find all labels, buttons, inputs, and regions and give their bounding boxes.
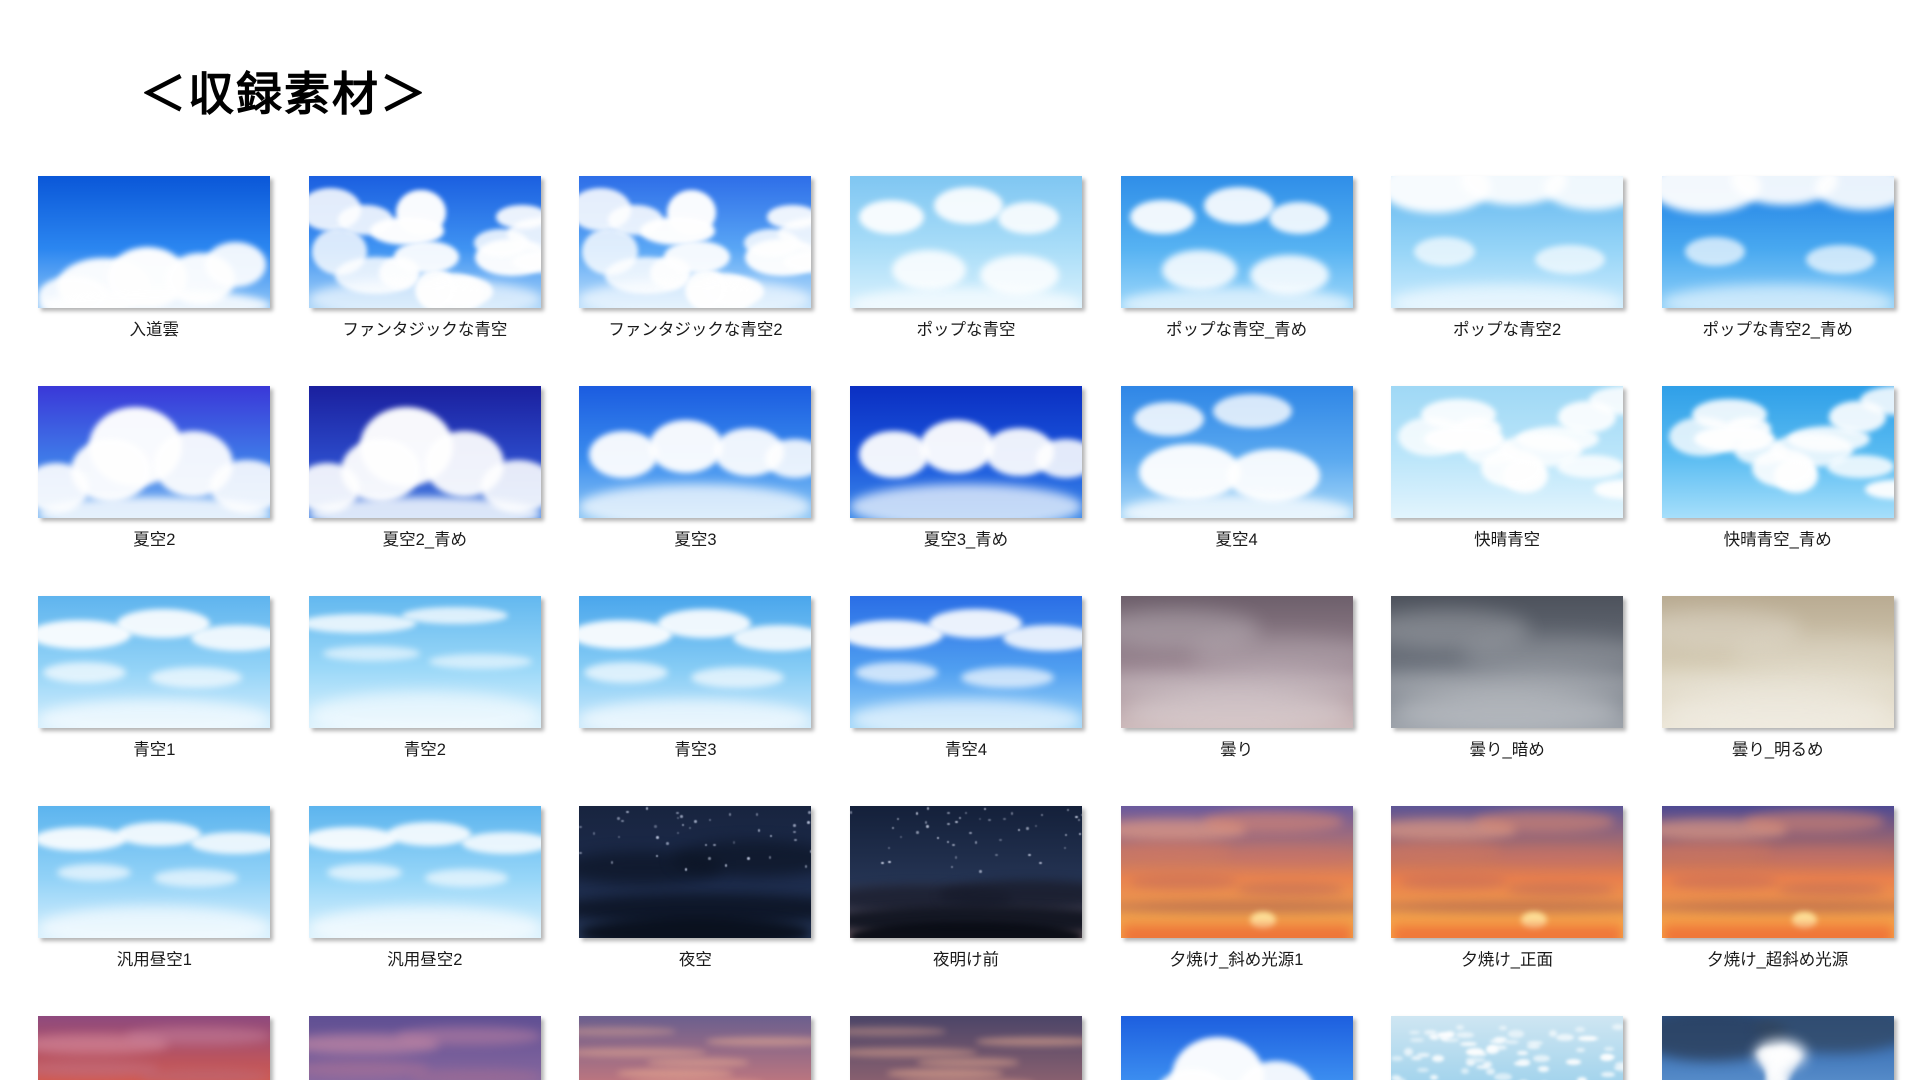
material-label: 汎用昼空2 — [387, 951, 462, 971]
material-label: 入道雲 — [130, 321, 180, 341]
thumbnail-wrapper — [1381, 592, 1634, 732]
material-thumbnail[interactable] — [1662, 596, 1894, 728]
material-label: ファンタジックな青空 — [342, 321, 507, 341]
cloud-layer — [1121, 386, 1353, 518]
thumbnail-wrapper — [299, 172, 552, 312]
cloud-layer — [1121, 1016, 1353, 1080]
material-thumbnail[interactable] — [850, 176, 1082, 308]
material-thumbnail[interactable] — [1121, 1016, 1353, 1080]
material-thumbnail[interactable] — [579, 806, 811, 938]
thumbnail-wrapper — [28, 592, 281, 732]
cloud-layer — [38, 386, 270, 518]
thumbnail-wrapper — [1381, 382, 1634, 522]
material-item[interactable]: 夏空2_青め — [299, 382, 552, 592]
material-item[interactable]: 夜明け前 — [840, 802, 1093, 1012]
material-item[interactable]: 夕焼け_正面 — [1381, 802, 1634, 1012]
material-thumbnail[interactable] — [1121, 386, 1353, 518]
material-thumbnail[interactable] — [309, 176, 541, 308]
page-title: ＜収録素材＞ — [140, 58, 428, 124]
cloud-layer — [1662, 386, 1894, 518]
material-item[interactable]: 夕暮れ_横光源2 — [569, 1012, 822, 1080]
material-item[interactable]: ポップな青空2_青め — [1651, 172, 1904, 382]
cloud-layer — [309, 806, 541, 938]
thumbnail-wrapper — [840, 802, 1093, 942]
material-item[interactable]: 曇り_暗め — [1381, 592, 1634, 802]
material-thumbnail[interactable] — [850, 1016, 1082, 1080]
material-label: ポップな青空2_青め — [1703, 321, 1853, 341]
thumbnail-wrapper — [569, 1012, 822, 1080]
material-label: 快晴青空 — [1474, 531, 1540, 551]
thumbnail-wrapper — [28, 382, 281, 522]
material-item[interactable]: 曇り — [1110, 592, 1363, 802]
material-item[interactable]: ファンタジックな青空 — [299, 172, 552, 382]
thumbnail-wrapper — [1110, 172, 1363, 312]
thumbnail-wrapper — [28, 802, 281, 942]
material-label: ポップな青空_青め — [1166, 321, 1307, 341]
thumbnail-wrapper — [840, 592, 1093, 732]
material-thumbnail[interactable] — [38, 596, 270, 728]
material-item[interactable]: ポップな青空2 — [1381, 172, 1634, 382]
material-label: ファンタジックな青空2 — [608, 321, 782, 341]
material-label: 夕焼け_斜め光源1 — [1170, 951, 1304, 971]
material-label: 快晴青空_青め — [1724, 531, 1832, 551]
thumbnail-wrapper — [1651, 1012, 1904, 1080]
cloud-layer — [1662, 596, 1894, 728]
thumbnail-wrapper — [28, 172, 281, 312]
cloud-layer — [1121, 596, 1353, 728]
thumbnail-wrapper — [569, 382, 822, 522]
material-label: 青空2 — [404, 741, 446, 761]
thumbnail-wrapper — [569, 592, 822, 732]
material-label: ポップな青空 — [916, 321, 1015, 341]
thumbnail-wrapper — [1651, 382, 1904, 522]
material-label: ポップな青空2 — [1453, 321, 1561, 341]
material-thumbnail[interactable] — [850, 386, 1082, 518]
material-thumbnail[interactable] — [38, 1016, 270, 1080]
material-item[interactable]: 入道雲 — [28, 172, 281, 382]
material-thumbnail[interactable] — [850, 806, 1082, 938]
thumbnail-wrapper — [1651, 592, 1904, 732]
material-thumbnail[interactable] — [1121, 596, 1353, 728]
material-thumbnail[interactable] — [309, 1016, 541, 1080]
material-item[interactable]: 夕暮れ_横光源1_青め — [299, 1012, 552, 1080]
cloud-layer — [1391, 176, 1623, 308]
material-label: 夜空 — [679, 951, 712, 971]
material-item[interactable]: 汎用昼空1 — [28, 802, 281, 1012]
thumbnail-wrapper — [840, 1012, 1093, 1080]
thumbnail-wrapper — [1651, 172, 1904, 312]
material-item[interactable]: ポップな青空 — [840, 172, 1093, 382]
material-thumbnail[interactable] — [579, 1016, 811, 1080]
cloud-layer — [38, 176, 270, 308]
thumbnail-wrapper — [299, 802, 552, 942]
cloud-layer — [309, 176, 541, 308]
material-thumbnail[interactable] — [38, 806, 270, 938]
material-label: 夜明け前 — [933, 951, 999, 971]
thumbnail-wrapper — [840, 382, 1093, 522]
material-label: 夏空3 — [674, 531, 716, 551]
cloud-layer — [850, 386, 1082, 518]
material-item[interactable]: 夏空1 — [1110, 1012, 1363, 1080]
material-thumbnail[interactable] — [1391, 596, 1623, 728]
cloud-layer — [1391, 596, 1623, 728]
material-thumbnail[interactable] — [1391, 386, 1623, 518]
material-item[interactable]: 夕暮れ_横光源1 — [28, 1012, 281, 1080]
thumbnail-wrapper — [1381, 802, 1634, 942]
material-label: 夏空2 — [133, 531, 175, 551]
cloud-layer — [579, 386, 811, 518]
material-thumbnail[interactable] — [1662, 176, 1894, 308]
thumbnail-wrapper — [1110, 592, 1363, 732]
material-item[interactable]: 夜空 — [569, 802, 822, 1012]
material-label: 汎用昼空1 — [117, 951, 192, 971]
material-thumbnail[interactable] — [309, 806, 541, 938]
material-thumbnail[interactable] — [1121, 176, 1353, 308]
material-thumbnail[interactable] — [850, 596, 1082, 728]
material-thumbnail[interactable] — [1121, 806, 1353, 938]
cloud-layer — [579, 806, 811, 938]
thumbnail-wrapper — [569, 172, 822, 312]
cloud-layer — [309, 1016, 541, 1080]
material-label: 青空3 — [674, 741, 716, 761]
cloud-layer — [38, 1016, 270, 1080]
cloud-layer — [1121, 806, 1353, 938]
thumbnail-wrapper — [299, 382, 552, 522]
material-item[interactable]: 夕焼け_超斜め光源 — [1651, 802, 1904, 1012]
material-item[interactable]: 夏空4 — [1110, 382, 1363, 592]
material-item[interactable]: 夕暮れ_横光源2_暗め — [840, 1012, 1093, 1080]
material-thumbnail[interactable] — [579, 386, 811, 518]
material-item[interactable]: ポップな青空_青め — [1110, 172, 1363, 382]
thumbnail-wrapper — [569, 802, 822, 942]
material-item[interactable]: 快晴青空_青め — [1651, 382, 1904, 592]
thumbnail-wrapper — [1651, 802, 1904, 942]
cloud-layer — [850, 806, 1082, 938]
cloud-layer — [309, 596, 541, 728]
material-label: 夏空2_青め — [383, 531, 467, 551]
material-label: 青空4 — [945, 741, 987, 761]
material-item[interactable]: 青空3 — [569, 592, 822, 802]
material-thumbnail[interactable] — [309, 596, 541, 728]
material-item[interactable]: 青空4 — [840, 592, 1093, 802]
material-label: 曇り_明るめ — [1732, 741, 1824, 761]
cloud-layer — [1121, 176, 1353, 308]
cloud-layer — [850, 596, 1082, 728]
cloud-layer — [1662, 806, 1894, 938]
thumbnail-wrapper — [1381, 172, 1634, 312]
material-item[interactable]: うろこ雲 — [1381, 1012, 1634, 1080]
material-catalog-page: ＜収録素材＞ 入道雲ファンタジックな青空ファンタジックな青空2ポップな青空ポップ… — [0, 0, 1920, 1080]
thumbnail-wrapper — [1381, 1012, 1634, 1080]
material-label: 曇り — [1220, 741, 1253, 761]
cloud-layer — [38, 596, 270, 728]
material-thumbnail[interactable] — [579, 176, 811, 308]
material-label: 夕焼け_超斜め光源 — [1707, 951, 1848, 971]
thumbnail-wrapper — [1110, 382, 1363, 522]
material-label: 曇り_暗め — [1470, 741, 1545, 761]
material-thumbnail[interactable] — [1662, 1016, 1894, 1080]
thumbnail-wrapper — [299, 592, 552, 732]
material-label: 夏空3_青め — [924, 531, 1008, 551]
material-item[interactable]: 快晴青空 — [1381, 382, 1634, 592]
material-item[interactable]: 青空2 — [299, 592, 552, 802]
material-item[interactable]: 曇り_明るめ — [1651, 592, 1904, 802]
thumbnail-wrapper — [1110, 802, 1363, 942]
material-item[interactable]: 夏空3 — [569, 382, 822, 592]
material-thumbnail[interactable] — [1391, 806, 1623, 938]
material-thumbnail[interactable] — [38, 386, 270, 518]
material-item[interactable]: 夏空3_青め — [840, 382, 1093, 592]
cloud-layer — [1391, 1016, 1623, 1080]
thumbnail-wrapper — [840, 172, 1093, 312]
material-item[interactable]: ファンタジックな青空2 — [569, 172, 822, 382]
cloud-layer — [850, 176, 1082, 308]
material-item[interactable]: 神々しい空 — [1651, 1012, 1904, 1080]
material-thumbnail[interactable] — [1391, 176, 1623, 308]
cloud-layer — [1391, 806, 1623, 938]
material-thumbnail[interactable] — [1662, 386, 1894, 518]
cloud-layer — [309, 386, 541, 518]
material-thumbnail[interactable] — [309, 386, 541, 518]
material-label: 青空1 — [133, 741, 175, 761]
cloud-layer — [850, 1016, 1082, 1080]
cloud-layer — [579, 176, 811, 308]
material-label: 夕焼け_正面 — [1461, 951, 1553, 971]
material-thumbnail[interactable] — [1391, 1016, 1623, 1080]
cloud-layer — [1662, 1016, 1894, 1080]
material-item[interactable]: 汎用昼空2 — [299, 802, 552, 1012]
material-thumbnail[interactable] — [38, 176, 270, 308]
thumbnail-wrapper — [28, 1012, 281, 1080]
material-item[interactable]: 青空1 — [28, 592, 281, 802]
cloud-layer — [579, 1016, 811, 1080]
thumbnail-wrapper — [299, 1012, 552, 1080]
cloud-layer — [579, 596, 811, 728]
material-item[interactable]: 夕焼け_斜め光源1 — [1110, 802, 1363, 1012]
material-thumbnail-grid: 入道雲ファンタジックな青空ファンタジックな青空2ポップな青空ポップな青空_青めポ… — [28, 172, 1904, 1080]
cloud-layer — [1391, 386, 1623, 518]
cloud-layer — [38, 806, 270, 938]
cloud-layer — [1662, 176, 1894, 308]
material-thumbnail[interactable] — [1662, 806, 1894, 938]
thumbnail-wrapper — [1110, 1012, 1363, 1080]
material-thumbnail[interactable] — [579, 596, 811, 728]
material-label: 夏空4 — [1215, 531, 1257, 551]
material-item[interactable]: 夏空2 — [28, 382, 281, 592]
